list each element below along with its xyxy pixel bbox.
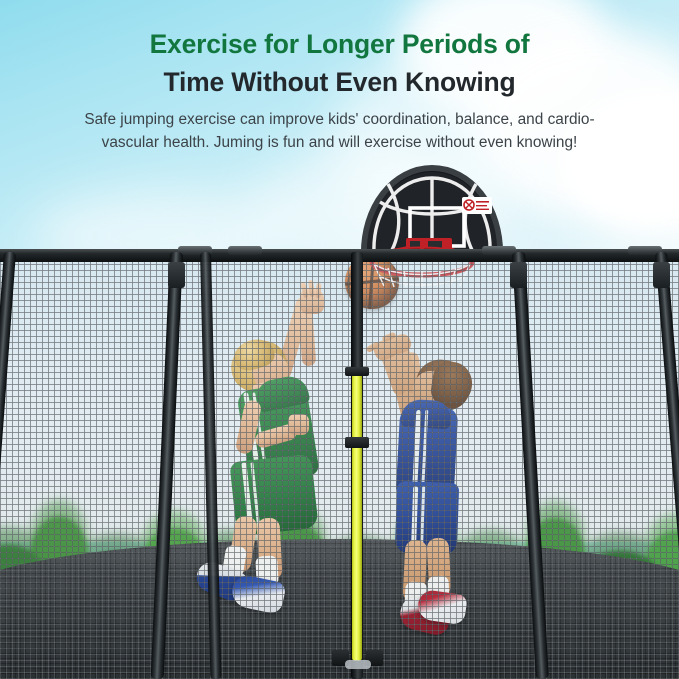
subcopy: Safe jumping exercise can improve kids' … [22, 108, 657, 155]
rail-connector [228, 246, 262, 255]
headline-line-1: Exercise for Longer Periods of [0, 26, 679, 64]
rail-connector [482, 246, 516, 255]
green-kid-fist [288, 414, 309, 435]
outdoor-scene [0, 252, 679, 679]
center-pole-clamp [345, 367, 369, 376]
pole-sleeve [653, 262, 670, 288]
backboard-logo-text [476, 209, 489, 210]
enclosure-top-rail [0, 249, 679, 262]
center-pole-clamp [345, 437, 369, 448]
hoop-svg [350, 162, 515, 287]
green-kid-finger [315, 283, 321, 298]
page-title: Exercise for Longer Periods of Time With… [0, 26, 679, 101]
subcopy-line-1: Safe jumping exercise can improve kids' … [22, 108, 657, 131]
pole-sleeve [510, 262, 527, 288]
pole-sleeve [168, 262, 185, 288]
center-pole-padding [352, 371, 362, 661]
backboard-logo-text [476, 205, 487, 206]
subcopy-line-2: vascular health. Juming is fun and will … [22, 131, 657, 154]
hoop-net [374, 264, 470, 287]
headline-line-2: Time Without Even Knowing [0, 64, 679, 102]
basketball-hoop [350, 162, 515, 287]
marketing-banner: Exercise for Longer Periods of Time With… [0, 0, 679, 679]
backboard-logo-text [476, 201, 489, 203]
center-pole-strap [345, 660, 371, 669]
